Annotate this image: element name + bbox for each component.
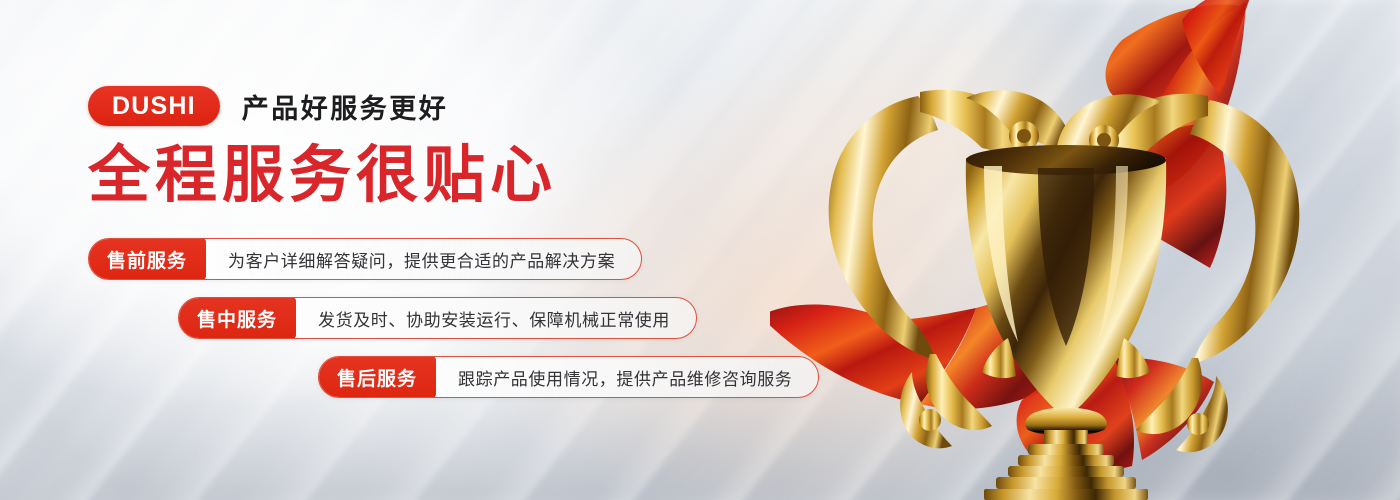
eyebrow-row: DUSHI 产品好服务更好: [88, 84, 868, 128]
service-row-presale[interactable]: 售前服务 为客户详细解答疑问，提供更合适的产品解决方案: [88, 238, 642, 280]
service-tag: 售中服务: [178, 297, 296, 339]
service-row-insale[interactable]: 售中服务 发货及时、协助安装运行、保障机械正常使用: [178, 297, 697, 339]
service-tag: 售后服务: [318, 356, 436, 398]
service-description: 为客户详细解答疑问，提供更合适的产品解决方案: [206, 239, 641, 279]
brand-badge: DUSHI: [88, 86, 220, 126]
service-description: 跟踪产品使用情况，提供产品维修咨询服务: [436, 357, 818, 397]
page-title: 全程服务很贴心: [88, 144, 868, 208]
service-list: 售前服务 为客户详细解答疑问，提供更合适的产品解决方案 售中服务 发货及时、协助…: [88, 238, 868, 398]
eyebrow-text: 产品好服务更好: [242, 87, 449, 126]
service-tag: 售前服务: [88, 238, 206, 280]
service-row-aftersale[interactable]: 售后服务 跟踪产品使用情况，提供产品维修咨询服务: [318, 356, 819, 398]
banner-content: DUSHI 产品好服务更好 全程服务很贴心 售前服务 为客户详细解答疑问，提供更…: [88, 84, 868, 415]
promo-banner: DUSHI 产品好服务更好 全程服务很贴心 售前服务 为客户详细解答疑问，提供更…: [0, 0, 1400, 500]
service-description: 发货及时、协助安装运行、保障机械正常使用: [296, 298, 696, 338]
